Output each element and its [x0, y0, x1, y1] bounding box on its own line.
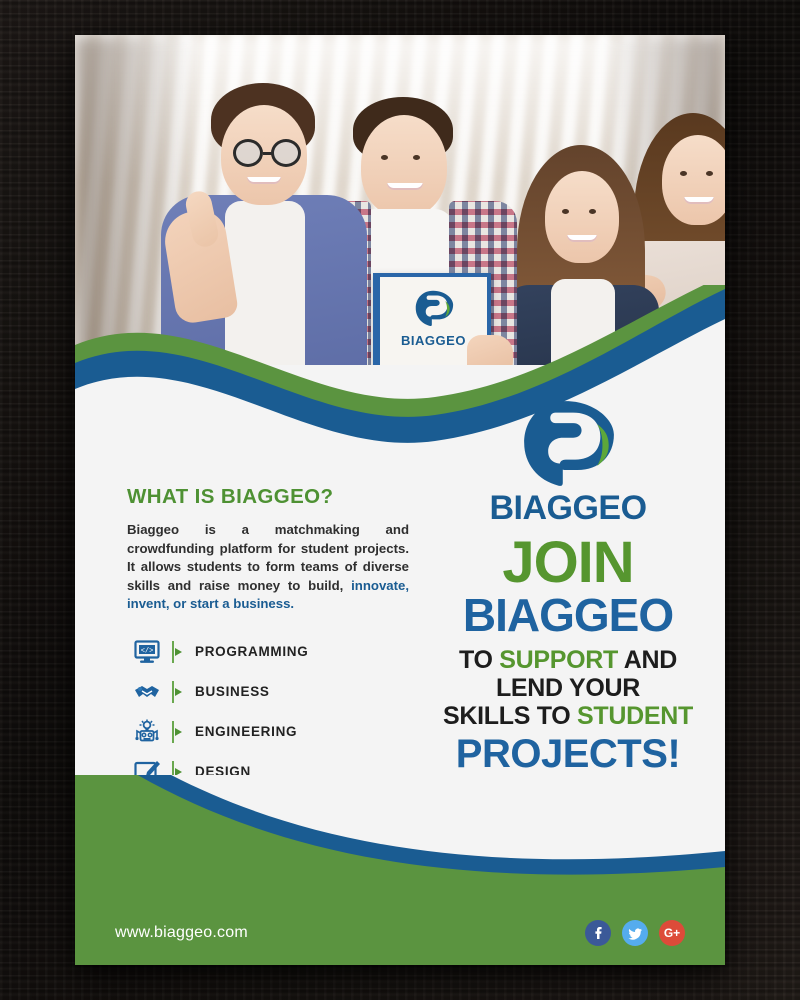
holding-hand [467, 335, 513, 365]
tagline-line2: LEND YOUR [496, 674, 640, 702]
green-arrow-bullet-icon [167, 721, 189, 743]
eye [706, 171, 713, 176]
what-is-biaggeo-heading: WHAT IS BIAGGEO? [127, 485, 409, 509]
head [361, 115, 447, 217]
head [221, 105, 307, 205]
tagline-student: STUDENT [577, 702, 693, 730]
poster-sheet: BIAGGEO WHAT IS BIAGGEO? Biaggeo is a ma… [75, 35, 725, 965]
smile [567, 235, 597, 242]
eye [680, 171, 687, 176]
tagline: TO SUPPORT AND LEND YOUR SKILLS TO STUDE… [427, 646, 709, 730]
head [662, 135, 725, 225]
smile [387, 183, 423, 190]
brand-wordmark: BIAGGEO [427, 491, 709, 525]
tagline-support: SUPPORT [499, 646, 618, 674]
skill-row-business[interactable]: BUSINESS [127, 672, 409, 712]
eye [562, 209, 569, 214]
robot-lightbulb-icon [127, 718, 167, 746]
eye [381, 155, 388, 160]
skill-label: BUSINESS [189, 684, 270, 699]
skill-row-programming[interactable]: </> PROGRAMMING [127, 632, 409, 672]
twitter-icon[interactable] [622, 920, 648, 946]
google-plus-icon[interactable]: G+ [659, 920, 685, 946]
tagline-part: SKILLS TO [443, 702, 577, 730]
social-links: G+ [585, 920, 685, 946]
smile [247, 177, 281, 184]
eye [589, 209, 596, 214]
green-arrow-bullet-icon [167, 641, 189, 663]
website-url[interactable]: www.biaggeo.com [115, 924, 248, 942]
green-arrow-bullet-icon [167, 681, 189, 703]
smile [684, 197, 714, 204]
facebook-icon[interactable] [585, 920, 611, 946]
svg-text:</>: </> [141, 647, 154, 655]
tagline-part: TO [459, 646, 499, 674]
head [545, 171, 619, 263]
tagline-part: AND [618, 646, 677, 674]
biaggeo-logo-icon [412, 289, 456, 329]
eye [413, 155, 420, 160]
handshake-icon [127, 681, 167, 703]
projects-headline: PROJECTS! [427, 734, 709, 774]
google-plus-glyph: G+ [664, 926, 680, 940]
biaggeo-logo-icon [514, 397, 622, 493]
footer-bar: www.biaggeo.com G+ [75, 905, 725, 965]
biaggeo-headline: BIAGGEO [427, 592, 709, 638]
code-monitor-icon: </> [127, 640, 167, 664]
what-is-biaggeo-body: Biaggeo is a matchmaking and crowdfundin… [127, 521, 409, 614]
skill-row-engineering[interactable]: ENGINEERING [127, 712, 409, 752]
skill-label: ENGINEERING [189, 724, 297, 739]
join-headline: JOIN [427, 535, 709, 590]
skill-label: PROGRAMMING [189, 644, 308, 659]
